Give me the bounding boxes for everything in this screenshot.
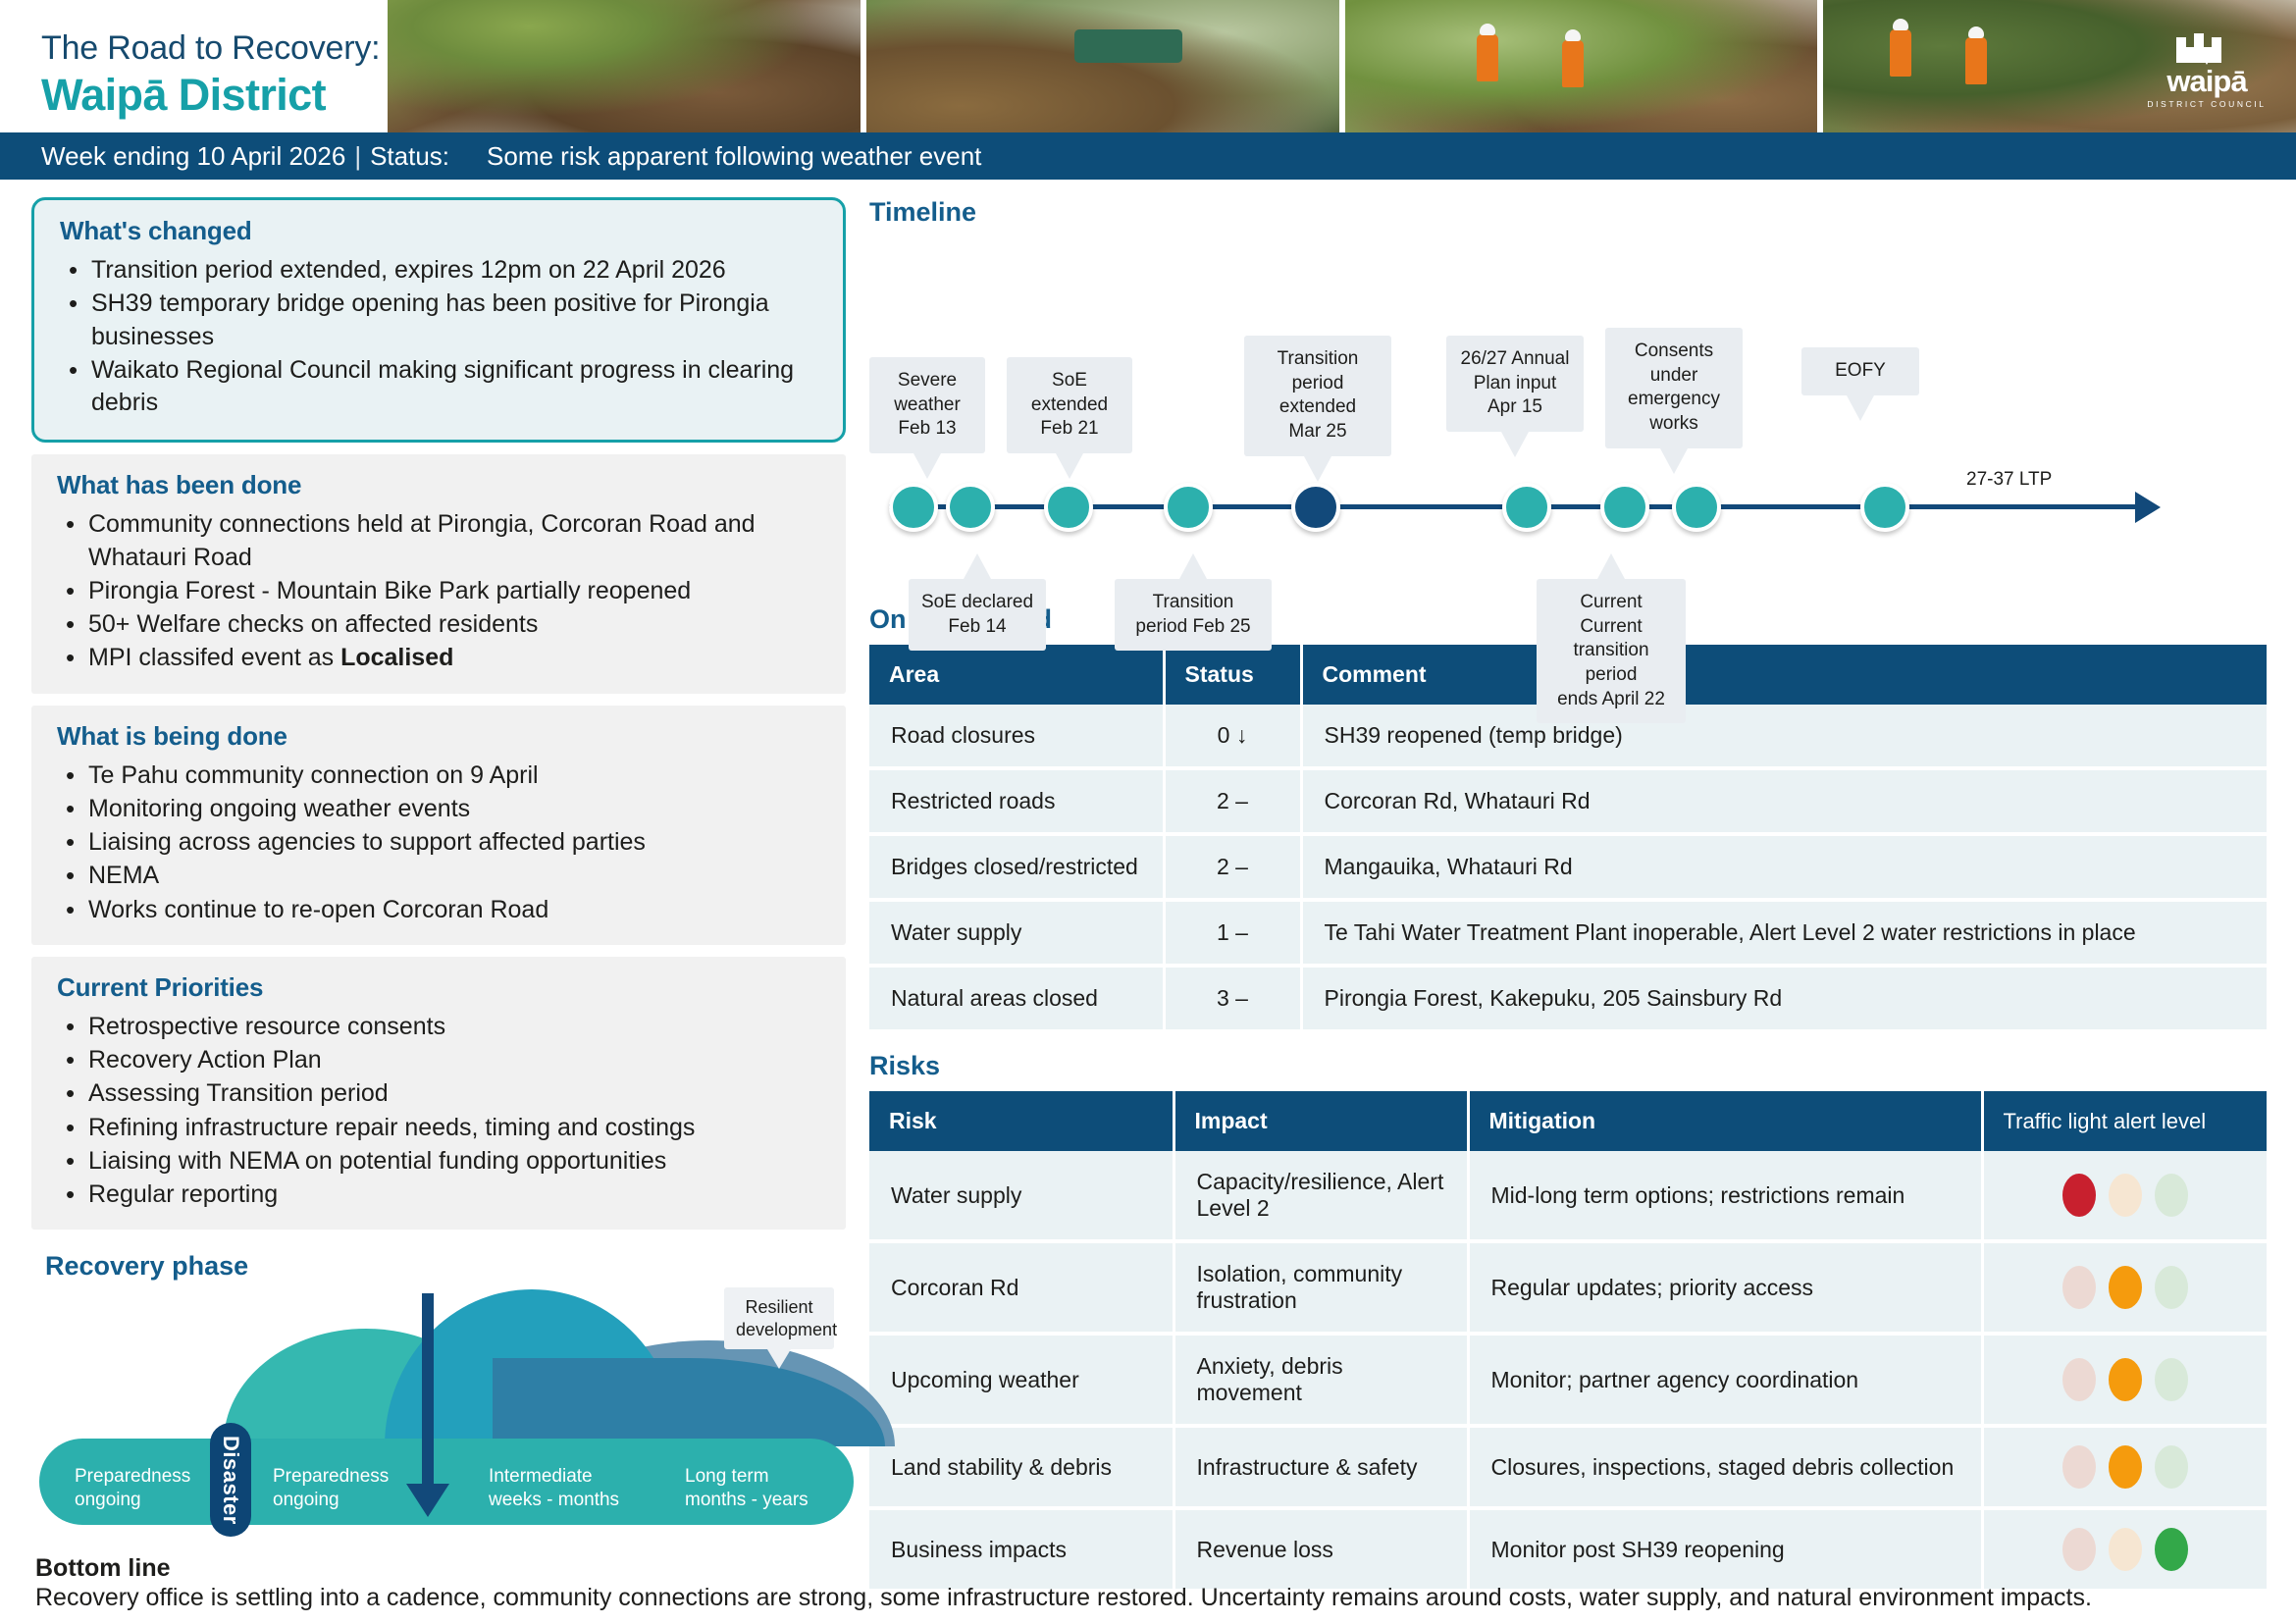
status-value: Some risk apparent following weather eve… <box>487 141 981 172</box>
cell-traffic-light <box>1982 1151 2267 1241</box>
list-item: SH39 temporary bridge opening has been p… <box>60 288 817 353</box>
cell-traffic-light <box>1982 1426 2267 1508</box>
what-is-being-done-list: Te Pahu community connection on 9 April … <box>57 760 820 926</box>
waipa-logo-subtitle: DISTRICT COUNCIL <box>2147 99 2266 109</box>
table-row: Bridges closed/restricted 2 – Mangauika,… <box>869 834 2267 900</box>
left-column: What's changed Transition period extende… <box>0 197 863 1624</box>
cell-comment: Mangauika, Whatauri Rd <box>1301 834 2267 900</box>
timeline-node-soe-extended[interactable] <box>1044 483 1093 532</box>
col-comment: Comment <box>1301 645 2267 705</box>
list-item: Te Pahu community connection on 9 April <box>57 760 820 792</box>
band-label-long-term: Long term months - years <box>685 1465 809 1512</box>
table-header-row: Risk Impact Mitigation Traffic light ale… <box>869 1091 2267 1151</box>
timeline-node-consents-emergency[interactable] <box>1672 483 1721 532</box>
cell-area: Bridges closed/restricted <box>869 834 1164 900</box>
waipa-crest-icon <box>2170 26 2243 65</box>
recovery-phase-title: Recovery phase <box>31 1251 846 1282</box>
mpi-text: MPI classifed event as <box>88 644 340 671</box>
red-light-icon <box>2062 1445 2096 1489</box>
cell-area: Road closures <box>869 705 1164 768</box>
waipa-logo-text: waipā <box>2166 66 2246 96</box>
photo-earthworks <box>866 0 1339 132</box>
col-impact: Impact <box>1174 1091 1468 1151</box>
cell-status: 0 ↓ <box>1164 705 1301 768</box>
timeline-box-annual-plan-input: 26/27 Annual Plan inputApr 15 <box>1446 336 1584 432</box>
timeline-node-severe-weather[interactable] <box>889 483 938 532</box>
timeline-box-soe-declared: SoE declaredFeb 14 <box>909 579 1046 651</box>
list-item: Pirongia Forest - Mountain Bike Park par… <box>57 575 820 607</box>
whats-changed-title: What's changed <box>60 216 817 246</box>
page-header: The Road to Recovery: Waipā District <box>0 0 2296 132</box>
risks-table: Risk Impact Mitigation Traffic light ale… <box>869 1091 2267 1593</box>
cell-comment: SH39 reopened (temp bridge) <box>1301 705 2267 768</box>
list-item: 50+ Welfare checks on affected residents <box>57 608 820 641</box>
cell-impact: Capacity/resilience, Alert Level 2 <box>1174 1151 1468 1241</box>
cell-area: Natural areas closed <box>869 966 1164 1031</box>
timeline-box-eofy: EOFY <box>1801 347 1919 395</box>
list-item: Monitoring ongoing weather events <box>57 793 820 825</box>
timeline-box-transition-extended: Transition period extendedMar 25 <box>1244 336 1391 456</box>
status-label: Status: <box>370 141 449 172</box>
recovery-phase-canvas: Preparedness ongoing Preparedness ongoin… <box>31 1287 875 1533</box>
current-priorities-title: Current Priorities <box>57 972 820 1003</box>
table-row: Natural areas closed 3 – Pirongia Forest… <box>869 966 2267 1031</box>
band-label-intermediate: Intermediate weeks - months <box>489 1465 619 1512</box>
amber-light-icon <box>2109 1174 2142 1217</box>
traffic-light-group <box>2006 1358 2246 1401</box>
table-row: Corcoran Rd Isolation, community frustra… <box>869 1241 2267 1334</box>
cell-impact: Infrastructure & safety <box>1174 1426 1468 1508</box>
timeline-ltp-label: 27-37 LTP <box>1966 469 2052 491</box>
amber-light-icon <box>2109 1358 2142 1401</box>
page-body: What's changed Transition period extende… <box>0 180 2296 1624</box>
photo-slip-site <box>388 0 861 132</box>
week-ending-label: Week ending 10 April 2026 <box>41 141 345 172</box>
table-row: Water supply Capacity/resilience, Alert … <box>869 1151 2267 1241</box>
cell-risk: Upcoming weather <box>869 1334 1174 1426</box>
cell-status: 2 – <box>1164 768 1301 834</box>
timeline-box-severe-weather: Severe weatherFeb 13 <box>869 357 985 453</box>
waipa-logo: waipā DISTRICT COUNCIL <box>2143 18 2270 116</box>
timeline-box-soe-extended: SoE extendedFeb 21 <box>1007 357 1132 453</box>
green-light-icon <box>2155 1266 2188 1309</box>
what-has-been-done-title: What has been done <box>57 470 820 500</box>
current-priorities-list: Retrospective resource consents Recovery… <box>57 1011 820 1212</box>
brand-block: The Road to Recovery: Waipā District <box>0 0 388 132</box>
list-item: NEMA <box>57 860 820 892</box>
timeline-box-consents-emergency: Consents under emergencyworks <box>1605 328 1743 448</box>
timeline-node-annual-plan-input[interactable] <box>1502 483 1551 532</box>
bottom-line-title: Bottom line <box>35 1554 2272 1583</box>
red-light-icon <box>2062 1358 2096 1401</box>
list-item: Community connections held at Pirongia, … <box>57 508 820 574</box>
brand-line2: Waipā District <box>41 70 388 121</box>
list-item: Refining infrastructure repair needs, ti… <box>57 1112 820 1144</box>
cell-mitigation: Monitor; partner agency coordination <box>1468 1334 1982 1426</box>
cell-risk: Water supply <box>869 1151 1174 1241</box>
green-light-icon <box>2155 1445 2188 1489</box>
cell-area: Water supply <box>869 900 1164 966</box>
timeline-box-current-transition-ends: Current Current transition periodends Ap… <box>1537 579 1686 723</box>
band-label-preparedness-1: Preparedness ongoing <box>75 1465 190 1512</box>
list-item: Liaising with NEMA on potential funding … <box>57 1145 820 1178</box>
cell-status: 3 – <box>1164 966 1301 1031</box>
red-light-icon <box>2062 1266 2096 1309</box>
col-traffic-light: Traffic light alert level <box>1982 1091 2267 1151</box>
cell-mitigation: Mid-long term options; restrictions rema… <box>1468 1151 1982 1241</box>
cell-traffic-light <box>1982 1334 2267 1426</box>
panel-whats-changed: What's changed Transition period extende… <box>31 197 846 443</box>
what-is-being-done-title: What is being done <box>57 721 820 752</box>
disaster-label: Disaster <box>218 1436 243 1525</box>
recovery-phase-diagram: Recovery phase Preparedness ongoing Prep… <box>31 1251 846 1545</box>
mpi-classification: Localised <box>340 644 453 671</box>
cell-impact: Isolation, community frustration <box>1174 1241 1468 1334</box>
list-item: Liaising across agencies to support affe… <box>57 826 820 859</box>
timeline-widget: Severe weatherFeb 13 SoE extendedFeb 21 … <box>869 237 2243 601</box>
timeline-node-soe-declared[interactable] <box>946 483 995 532</box>
traffic-light-group <box>2006 1445 2246 1489</box>
right-column: Timeline Severe weatherFeb 13 <box>863 197 2296 1624</box>
table-row: Restricted roads 2 – Corcoran Rd, Whatau… <box>869 768 2267 834</box>
timeline-node-transition-period[interactable] <box>1164 483 1213 532</box>
cell-area: Restricted roads <box>869 768 1164 834</box>
timeline-axis-arrowhead <box>2135 492 2161 523</box>
header-photo-strip: waipā DISTRICT COUNCIL <box>388 0 2296 132</box>
panel-current-priorities: Current Priorities Retrospective resourc… <box>31 957 846 1231</box>
cell-status: 2 – <box>1164 834 1301 900</box>
cell-comment: Pirongia Forest, Kakepuku, 205 Sainsbury… <box>1301 966 2267 1031</box>
current-phase-arrowhead <box>406 1484 449 1517</box>
col-status: Status <box>1164 645 1301 705</box>
resilient-development-callout: Resilient development <box>724 1287 834 1349</box>
bottom-line-text: Recovery office is settling into a caden… <box>35 1584 2272 1612</box>
timeline-title: Timeline <box>869 197 2267 228</box>
timeline-node-transition-extended[interactable] <box>1291 483 1340 532</box>
cell-comment: Corcoran Rd, Whatauri Rd <box>1301 768 2267 834</box>
list-item: Assessing Transition period <box>57 1077 820 1110</box>
list-item: Transition period extended, expires 12pm… <box>60 254 817 287</box>
cell-status: 1 – <box>1164 900 1301 966</box>
what-has-been-done-list: Community connections held at Pirongia, … <box>57 508 820 674</box>
photo-stream-clearing <box>1345 0 1818 132</box>
cell-impact: Anxiety, debris movement <box>1174 1334 1468 1426</box>
amber-light-icon <box>2109 1266 2142 1309</box>
green-light-icon <box>2155 1174 2188 1217</box>
table-row: Upcoming weather Anxiety, debris movemen… <box>869 1334 2267 1426</box>
col-area: Area <box>869 645 1164 705</box>
traffic-light-group <box>2006 1266 2246 1309</box>
table-row: Water supply 1 – Te Tahi Water Treatment… <box>869 900 2267 966</box>
status-separator: | <box>354 141 361 172</box>
list-item: Recovery Action Plan <box>57 1044 820 1076</box>
cell-risk: Land stability & debris <box>869 1426 1174 1508</box>
table-row: Land stability & debris Infrastructure &… <box>869 1426 2267 1508</box>
panel-what-is-being-done: What is being done Te Pahu community con… <box>31 706 846 945</box>
timeline-node-eofy[interactable] <box>1860 483 1909 532</box>
panel-what-has-been-done: What has been done Community connections… <box>31 454 846 693</box>
amber-light-icon <box>2109 1445 2142 1489</box>
list-item: Works continue to re-open Corcoran Road <box>57 894 820 926</box>
timeline-box-transition-period: Transitionperiod Feb 25 <box>1115 579 1272 651</box>
disaster-marker: Disaster <box>210 1423 251 1537</box>
bottom-line-section: Bottom line Recovery office is settling … <box>35 1554 2272 1612</box>
current-phase-arrow <box>422 1293 434 1503</box>
col-risk: Risk <box>869 1091 1174 1151</box>
green-light-icon <box>2155 1358 2188 1401</box>
list-item: MPI classifed event as Localised <box>57 642 820 674</box>
traffic-light-group <box>2006 1174 2246 1217</box>
status-bar: Week ending 10 April 2026 | Status: Some… <box>0 132 2296 180</box>
cell-comment: Te Tahi Water Treatment Plant inoperable… <box>1301 900 2267 966</box>
cell-traffic-light <box>1982 1241 2267 1334</box>
list-item: Retrospective resource consents <box>57 1011 820 1043</box>
risks-title: Risks <box>869 1051 2267 1081</box>
report-page: The Road to Recovery: Waipā District <box>0 0 2296 1624</box>
list-item: Regular reporting <box>57 1179 820 1211</box>
list-item: Waikato Regional Council making signific… <box>60 354 817 420</box>
cell-mitigation: Regular updates; priority access <box>1468 1241 1982 1334</box>
brand-line1: The Road to Recovery: <box>41 29 388 68</box>
red-light-icon <box>2062 1174 2096 1217</box>
cell-mitigation: Closures, inspections, staged debris col… <box>1468 1426 1982 1508</box>
col-mitigation: Mitigation <box>1468 1091 1982 1151</box>
band-label-preparedness-2: Preparedness ongoing <box>273 1465 389 1512</box>
timeline-node-current-transition-ends[interactable] <box>1600 483 1649 532</box>
cell-risk: Corcoran Rd <box>869 1241 1174 1334</box>
whats-changed-list: Transition period extended, expires 12pm… <box>60 254 817 419</box>
